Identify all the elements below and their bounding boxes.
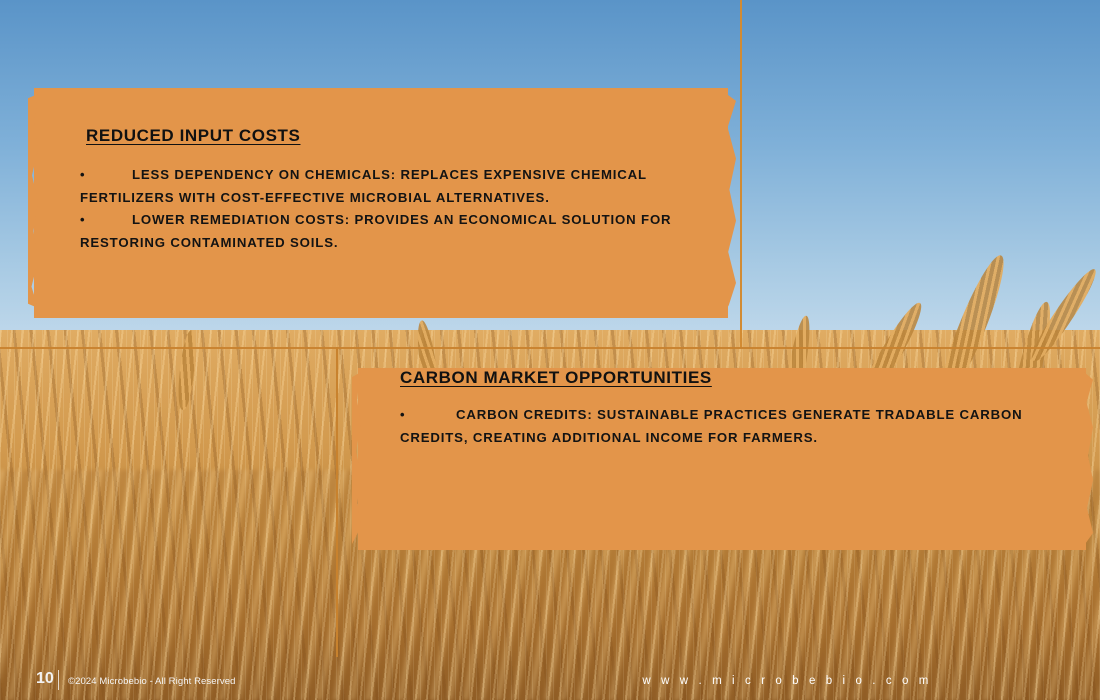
slide: REDUCED INPUT COSTS •LESS DEPENDENCY ON … [0,0,1100,700]
list-item: •CARBON CREDITS: SUSTAINABLE PRACTICES G… [400,404,1086,449]
card-title: CARBON MARKET OPPORTUNITIES [400,368,712,387]
bullet-icon: • [80,164,132,186]
card-carbon-market-opportunities: CARBON MARKET OPPORTUNITIES •CARBON CRED… [358,368,1086,550]
footer-divider [58,670,59,690]
list-item: •LESS DEPENDENCY ON CHEMICALS: REPLACES … [80,164,728,209]
list-item-text: CARBON CREDITS: SUSTAINABLE PRACTICES GE… [400,407,1023,445]
copyright-text: ©2024 Microbebio - All Right Reserved [68,676,236,687]
divider-horizontal [0,347,1100,349]
bullet-list: •LESS DEPENDENCY ON CHEMICALS: REPLACES … [34,146,728,255]
bullet-list: •CARBON CREDITS: SUSTAINABLE PRACTICES G… [358,388,1086,449]
list-item-text: LESS DEPENDENCY ON CHEMICALS: REPLACES E… [80,167,647,205]
footer: 10 ©2024 Microbebio - All Right Reserved… [0,656,1100,700]
website-url: w w w . m i c r o b e b i o . c o m [642,675,932,687]
bullet-icon: • [80,209,132,231]
list-item: •LOWER REMEDIATION COSTS: PROVIDES AN EC… [80,209,728,254]
page-number: 10 [36,670,54,688]
card-title: REDUCED INPUT COSTS [34,88,728,146]
divider-vertical-top [740,0,742,348]
bullet-icon: • [400,404,456,426]
card-reduced-input-costs: REDUCED INPUT COSTS •LESS DEPENDENCY ON … [34,88,728,318]
list-item-text: LOWER REMEDIATION COSTS: PROVIDES AN ECO… [80,212,671,250]
divider-vertical-bottom [336,347,338,657]
